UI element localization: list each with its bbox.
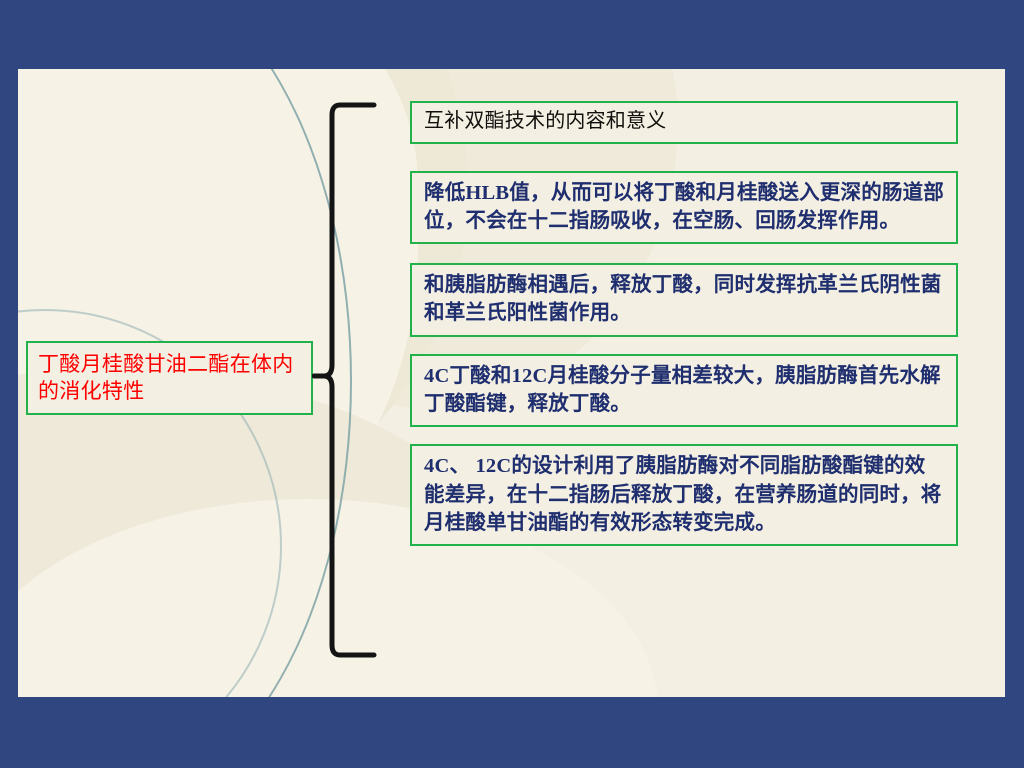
left-curly-brace-icon [312,99,382,661]
slide-canvas: 丁酸月桂酸甘油二酯在体内的消化特性 互补双酯技术的内容和意义 降低HLB值，从而… [18,69,1005,697]
node-label: 互补双酯技术的内容和意义 [424,108,946,136]
background-swirl-shape [18,69,468,539]
node-label: 4C、 12C的设计利用了胰脂肪酶对不同脂肪酸酯键的效能差异，在十二指肠后释放丁… [424,452,946,537]
source-node-label: 丁酸月桂酸甘油二酯在体内的消化特性 [38,351,301,405]
source-node-box[interactable]: 丁酸月桂酸甘油二酯在体内的消化特性 [26,341,313,415]
background-swirl-shape [18,69,418,569]
node-box-molecular-weight[interactable]: 4C丁酸和12C月桂酸分子量相差较大，胰脂肪酶首先水解丁酸酯键，释放丁酸。 [410,354,958,428]
node-label: 降低HLB值，从而可以将丁酸和月桂酸送入更深的肠道部位，不会在十二指肠吸收，在空… [424,179,946,236]
node-label: 4C丁酸和12C月桂酸分子量相差较大，胰脂肪酶首先水解丁酸酯键，释放丁酸。 [424,362,946,419]
node-label: 和胰脂肪酶相遇后，释放丁酸，同时发挥抗革兰氏阴性菌和革兰氏阳性菌作用。 [424,271,946,328]
node-box-design-rationale[interactable]: 4C、 12C的设计利用了胰脂肪酶对不同脂肪酸酯键的效能差异，在十二指肠后释放丁… [410,444,958,546]
node-box-lipase-release[interactable]: 和胰脂肪酶相遇后，释放丁酸，同时发挥抗革兰氏阴性菌和革兰氏阳性菌作用。 [410,263,958,337]
node-column: 互补双酯技术的内容和意义 降低HLB值，从而可以将丁酸和月桂酸送入更深的肠道部位… [410,101,958,546]
node-box-topic-title[interactable]: 互补双酯技术的内容和意义 [410,101,958,144]
node-box-hlb-reduction[interactable]: 降低HLB值，从而可以将丁酸和月桂酸送入更深的肠道部位，不会在十二指肠吸收，在空… [410,171,958,245]
